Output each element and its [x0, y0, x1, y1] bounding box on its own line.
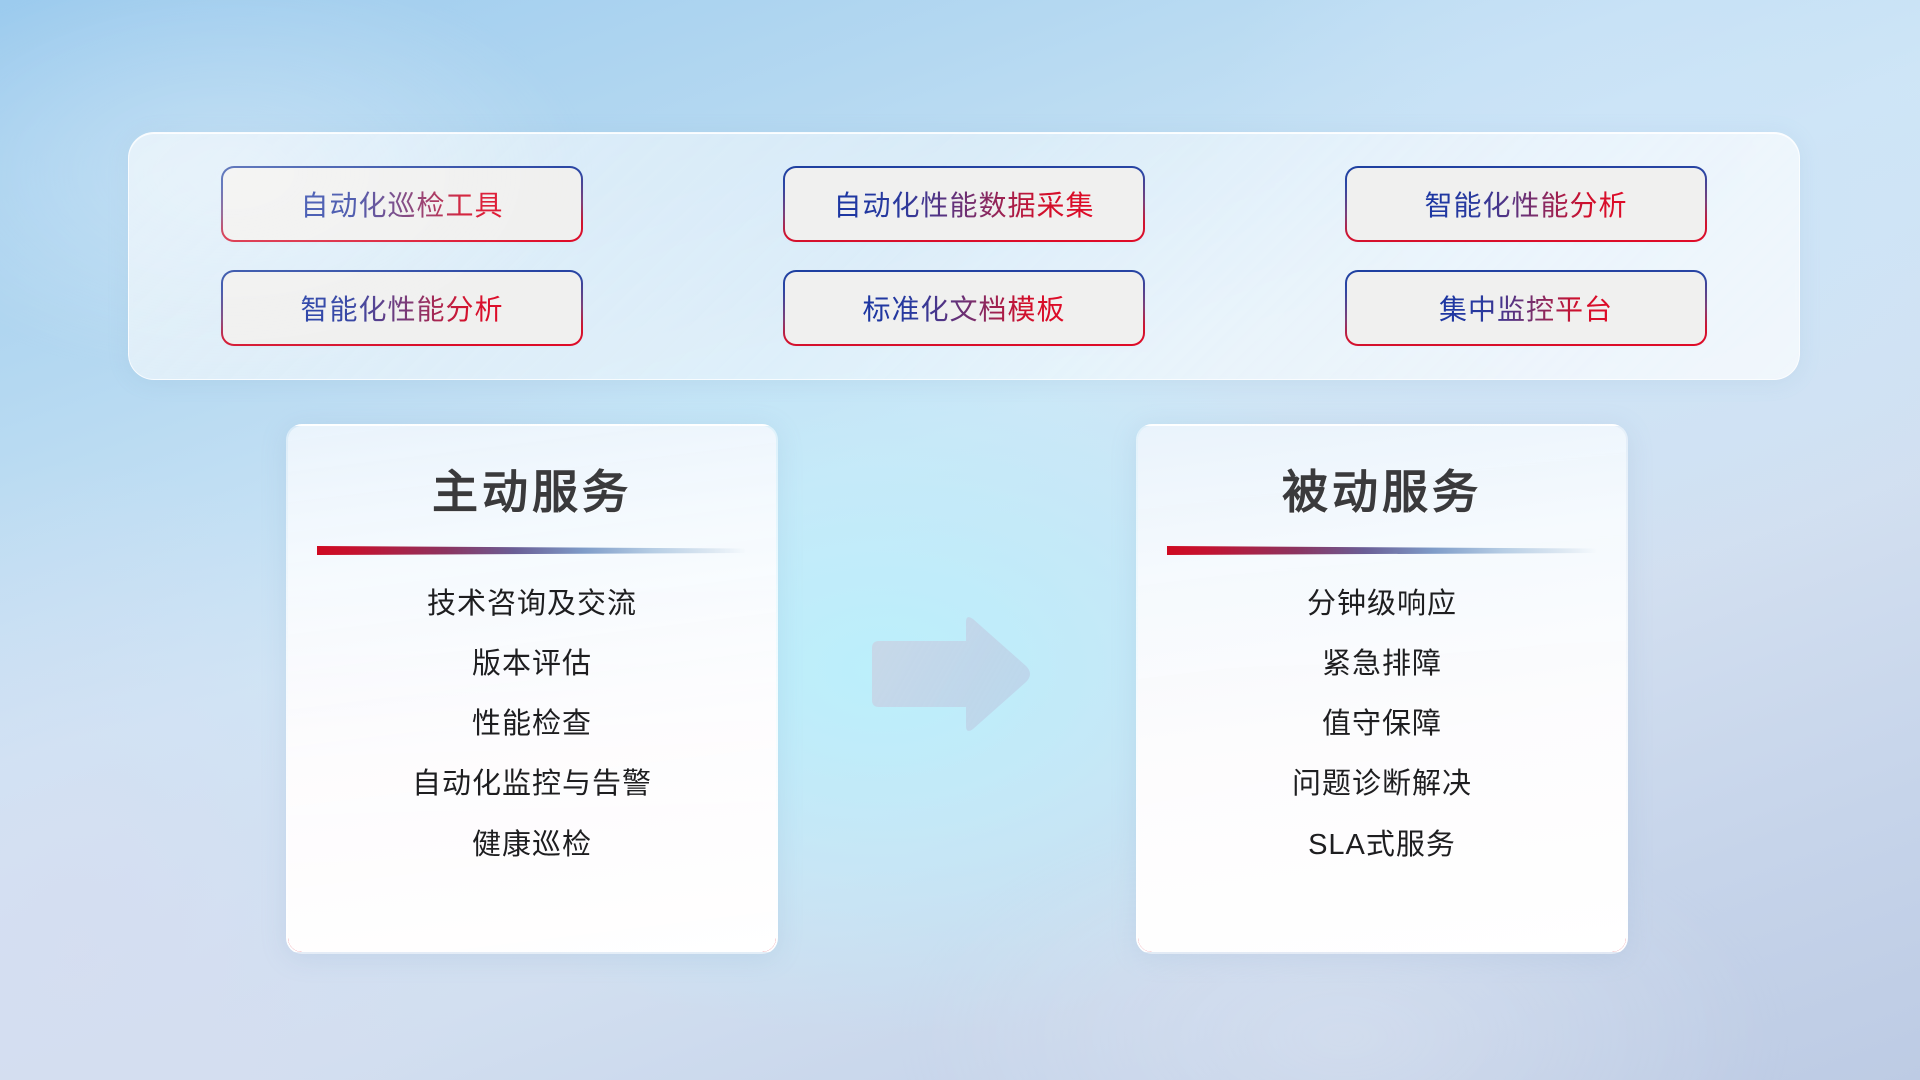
service-card-title: 被动服务 — [1282, 456, 1482, 522]
capability-chip-intelligent-perf-analysis-2[interactable]: 智能化性能分析 — [223, 272, 581, 344]
infographic-canvas: 自动化巡检工具 自动化性能数据采集 智能化性能分析 智能化性能分析 标准化文档模… — [0, 0, 1920, 1080]
capability-chip-label: 智能化性能分析 — [1424, 184, 1627, 224]
capability-chip-label: 标准化文档模板 — [862, 288, 1065, 328]
list-item: 分钟级响应 — [1307, 585, 1457, 624]
service-card-body: 主动服务 技术咨询及交流 版本评估 性能检查 自动化监控与告警 健康巡检 — [288, 426, 776, 952]
capability-chip-auto-perf-data-collection[interactable]: 自动化性能数据采集 — [785, 168, 1143, 240]
capability-row-1: 自动化巡检工具 自动化性能数据采集 智能化性能分析 — [223, 168, 1705, 240]
title-divider — [1167, 546, 1597, 555]
capability-chip-label: 自动化巡检工具 — [300, 184, 503, 224]
service-card-title: 主动服务 — [432, 456, 632, 522]
list-item: 自动化监控与告警 — [412, 765, 652, 804]
list-item: 值守保障 — [1322, 705, 1442, 744]
service-item-list: 分钟级响应 紧急排障 值守保障 问题诊断解决 SLA式服务 — [1138, 585, 1626, 865]
capability-panel: 自动化巡检工具 自动化性能数据采集 智能化性能分析 智能化性能分析 标准化文档模… — [128, 132, 1800, 380]
list-item: 技术咨询及交流 — [427, 585, 637, 624]
capability-chip-auto-inspection-tool[interactable]: 自动化巡检工具 — [223, 168, 581, 240]
capability-chip-label: 集中监控平台 — [1439, 288, 1613, 328]
capability-chip-standard-doc-template[interactable]: 标准化文档模板 — [785, 272, 1143, 344]
capability-chip-label: 自动化性能数据采集 — [833, 184, 1094, 224]
list-item: 问题诊断解决 — [1292, 765, 1472, 804]
service-item-list: 技术咨询及交流 版本评估 性能检查 自动化监控与告警 健康巡检 — [288, 585, 776, 865]
list-item: 版本评估 — [472, 645, 592, 684]
list-item: 性能检查 — [472, 705, 592, 744]
capability-chip-label: 智能化性能分析 — [300, 288, 503, 328]
capability-row-2: 智能化性能分析 标准化文档模板 集中监控平台 — [223, 272, 1705, 344]
list-item: SLA式服务 — [1308, 826, 1456, 865]
capability-chip-central-monitoring-platform[interactable]: 集中监控平台 — [1347, 272, 1705, 344]
service-card-body: 被动服务 分钟级响应 紧急排障 值守保障 问题诊断解决 SLA式服务 — [1138, 426, 1626, 952]
capability-chip-intelligent-perf-analysis[interactable]: 智能化性能分析 — [1347, 168, 1705, 240]
list-item: 紧急排障 — [1322, 645, 1442, 684]
title-divider — [317, 546, 747, 555]
list-item: 健康巡检 — [472, 826, 592, 865]
service-card-reactive: 被动服务 分钟级响应 紧急排障 值守保障 问题诊断解决 SLA式服务 — [1136, 424, 1628, 954]
right-arrow-icon — [866, 614, 1034, 734]
service-card-proactive: 主动服务 技术咨询及交流 版本评估 性能检查 自动化监控与告警 健康巡检 — [286, 424, 778, 954]
